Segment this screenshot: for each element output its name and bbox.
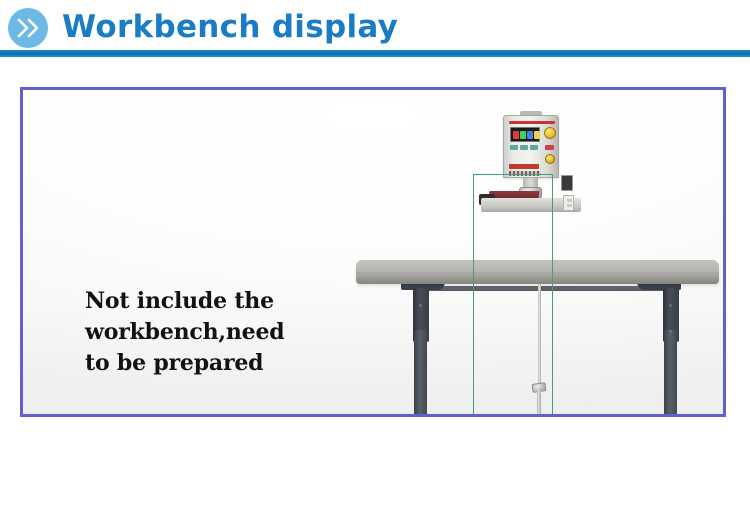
machine-button-row	[510, 145, 542, 150]
display-segment-green	[520, 131, 526, 139]
machine-button-1	[510, 145, 518, 150]
machine-button-3	[530, 145, 538, 150]
leg-lower-column	[414, 330, 427, 414]
disclaimer-line-3: to be prepared	[85, 348, 335, 379]
machine-secondary-knob	[545, 154, 555, 164]
header-divider-bar	[0, 50, 750, 57]
green-highlight-box	[473, 174, 553, 414]
machine-brand-label	[509, 164, 539, 169]
display-segment-blue	[527, 131, 533, 139]
side-plate-slot-2	[567, 204, 572, 207]
machine-power-button	[545, 145, 554, 150]
disclaimer-note: Not include the workbench,need to be pre…	[85, 286, 335, 379]
leg-screw-lower	[669, 330, 672, 333]
machine-rotary-knob	[544, 127, 556, 139]
machine-control-body	[503, 115, 559, 178]
machine-side-connector	[561, 175, 573, 191]
display-segment-red	[513, 131, 519, 139]
leg-screw	[419, 304, 422, 307]
side-plate-slot-1	[567, 199, 572, 202]
leg-screw	[669, 304, 672, 307]
product-photo: Not include the workbench,need to be pre…	[23, 90, 723, 414]
disclaimer-line-1: Not include the	[85, 286, 335, 317]
machine-button-2	[520, 145, 528, 150]
machine-side-plate	[563, 195, 574, 211]
leg-lower-column	[664, 330, 677, 414]
screenshot-root: Workbench display	[0, 0, 750, 530]
page-title: Workbench display	[62, 8, 398, 46]
machine-digital-display	[510, 127, 540, 142]
double-chevron-right-icon	[8, 8, 48, 48]
page-header: Workbench display	[0, 0, 750, 58]
machine-top-label-strip	[509, 121, 555, 124]
display-segment-yellow	[534, 131, 540, 139]
photo-frame: Not include the workbench,need to be pre…	[20, 87, 726, 417]
disclaimer-line-2: workbench,need	[85, 317, 335, 348]
